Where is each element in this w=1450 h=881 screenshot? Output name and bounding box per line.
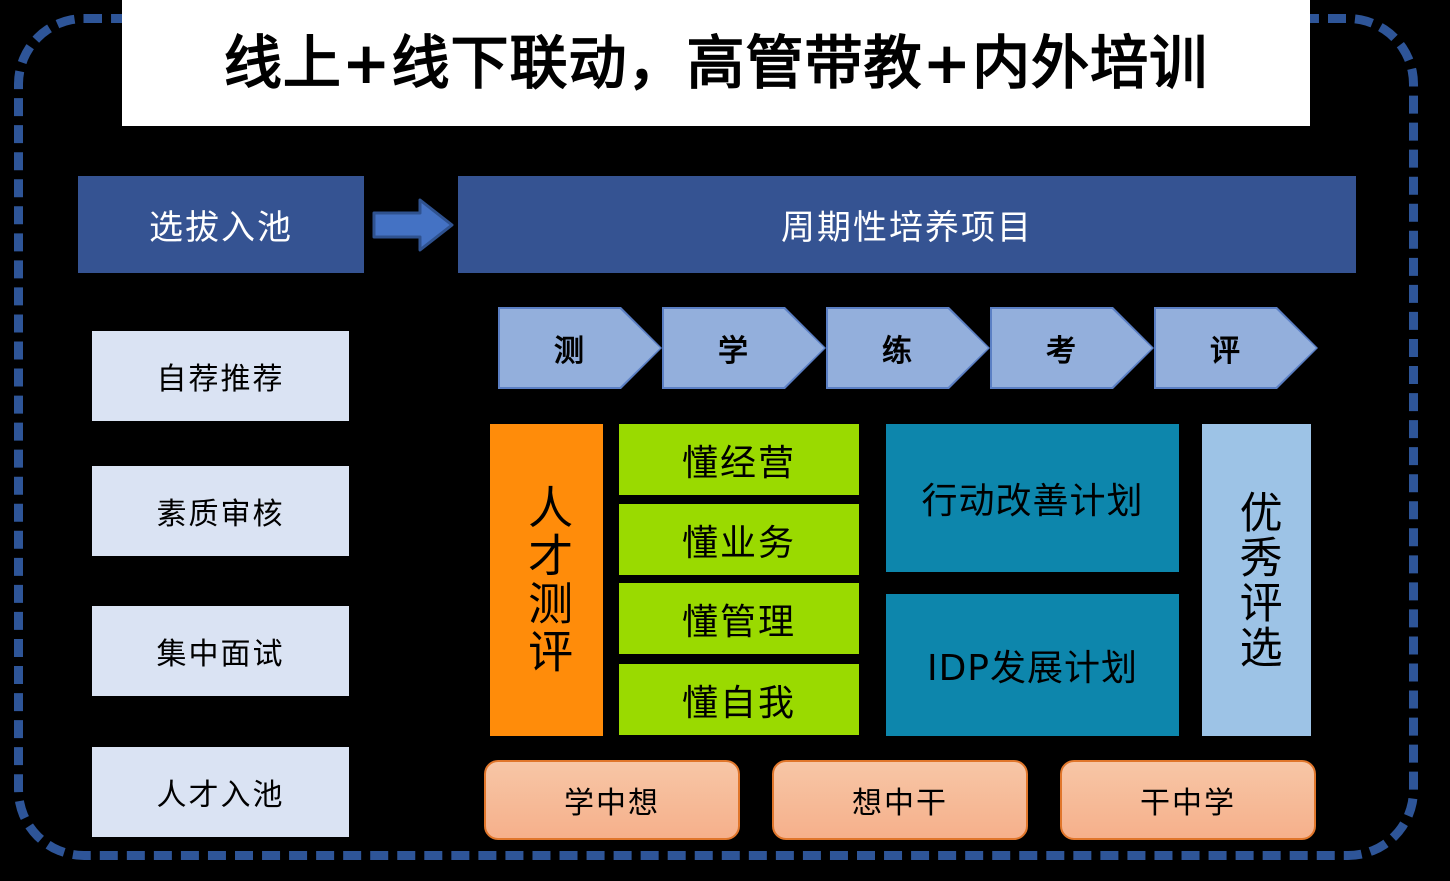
chevron-label: 测 [554,326,584,370]
chevron-label: 学 [718,326,748,370]
chevron-step-2[interactable]: 练 [826,307,990,389]
left-column-header-label: 选拔入池 [149,200,293,249]
talent-assessment-block[interactable]: 人才测评 [490,424,603,736]
cycle-label: 想中干 [852,778,948,822]
chevron-step-1[interactable]: 学 [662,307,826,389]
page-title: 线上+线下联动，高管带教+内外培训 [224,34,1208,92]
stage-box-quality-review[interactable]: 素质审核 [92,466,349,556]
left-column-header: 选拔入池 [78,176,364,273]
chevron-label: 考 [1046,326,1076,370]
excellence-award-label: 优秀评选 [1234,490,1279,670]
right-arrow-icon [372,197,454,253]
plan-label: IDP发展计划 [927,639,1138,691]
chevron-step-0[interactable]: 测 [498,307,662,389]
cycle-label: 学中想 [564,778,660,822]
competency-label: 懂业务 [682,514,796,566]
talent-assessment-label: 人才测评 [523,484,570,676]
competency-label: 懂自我 [682,674,796,726]
competency-box-business[interactable]: 懂业务 [619,504,859,575]
cycle-box-learn-while-doing[interactable]: 干中学 [1060,760,1316,840]
title-banner: 线上+线下联动，高管带教+内外培训 [122,0,1310,126]
competency-box-self[interactable]: 懂自我 [619,664,859,735]
competency-label: 懂管理 [682,593,796,645]
competency-box-management[interactable]: 懂管理 [619,583,859,654]
plan-box-action-improvement[interactable]: 行动改善计划 [886,424,1179,572]
stage-box-label: 素质审核 [157,489,285,533]
chevron-step-3[interactable]: 考 [990,307,1154,389]
diagram-canvas: 线上+线下联动，高管带教+内外培训 选拔入池 自荐推荐 素质审核 集中面试 人才… [0,0,1450,881]
chevron-label: 练 [882,326,912,370]
right-column-header-label: 周期性培养项目 [781,200,1033,249]
competency-label: 懂经营 [682,434,796,486]
chevron-label: 评 [1210,326,1240,370]
stage-box-group-interview[interactable]: 集中面试 [92,606,349,696]
right-column-header: 周期性培养项目 [458,176,1356,273]
chevron-step-4[interactable]: 评 [1154,307,1318,389]
chevron-row: 测 学 练 考 评 [498,307,1318,389]
excellence-award-block[interactable]: 优秀评选 [1202,424,1311,736]
stage-box-label: 自荐推荐 [157,354,285,398]
stage-box-label: 人才入池 [157,770,285,814]
cycle-box-do-while-thinking[interactable]: 想中干 [772,760,1028,840]
cycle-label: 干中学 [1140,778,1236,822]
plan-box-idp[interactable]: IDP发展计划 [886,594,1179,736]
competency-box-business-ops[interactable]: 懂经营 [619,424,859,495]
plan-label: 行动改善计划 [921,472,1143,524]
cycle-box-think-while-learning[interactable]: 学中想 [484,760,740,840]
stage-box-label: 集中面试 [157,629,285,673]
stage-box-self-recommend[interactable]: 自荐推荐 [92,331,349,421]
stage-box-talent-pool[interactable]: 人才入池 [92,747,349,837]
